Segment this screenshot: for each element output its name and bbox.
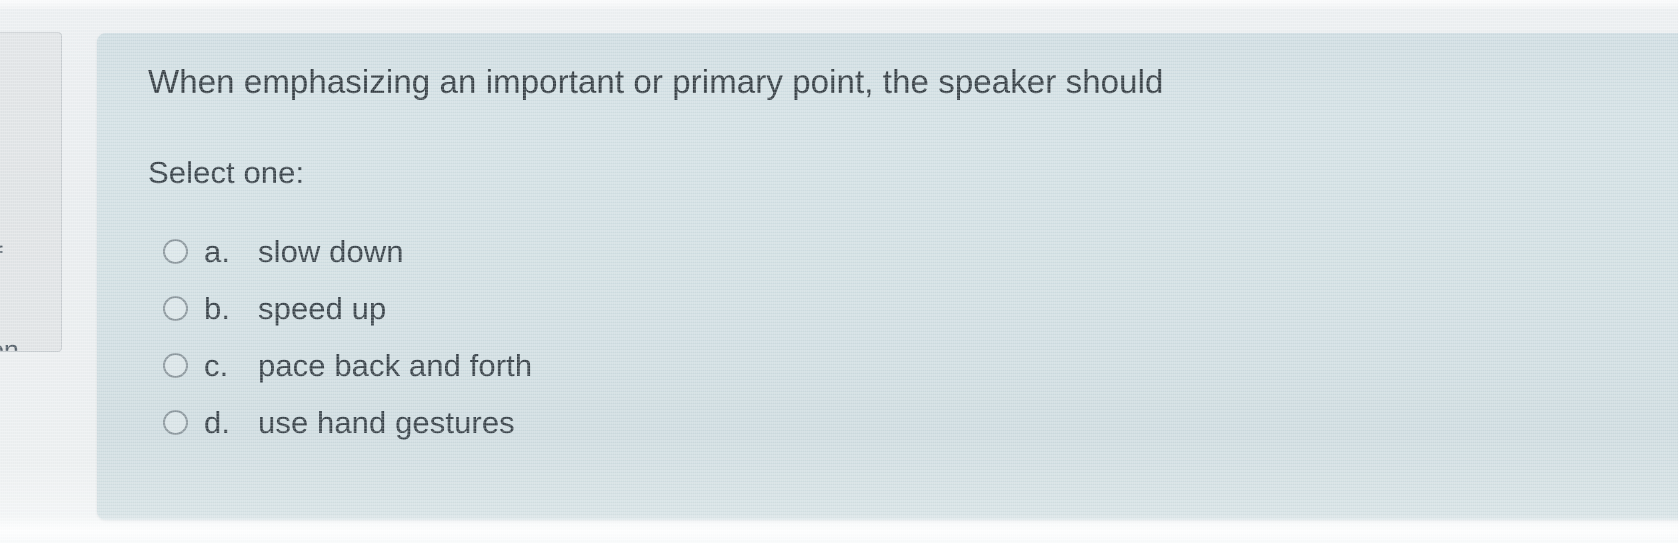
answer-option-d[interactable]: d. use hand gestures: [148, 394, 532, 451]
answer-letter-c: c.: [204, 348, 258, 384]
answer-option-b[interactable]: b. speed up: [148, 280, 532, 337]
radio-button-d[interactable]: [163, 410, 188, 435]
side-panel-text-fragment-bottom: on: [0, 335, 19, 352]
answer-label-d[interactable]: use hand gestures: [258, 405, 515, 441]
top-edge-sliver: [0, 0, 1678, 9]
quiz-navigation-panel[interactable]: | f on: [0, 32, 62, 352]
screen-photo: | f on When emphasizing an important or …: [0, 0, 1678, 543]
answer-label-a[interactable]: slow down: [258, 234, 404, 270]
answer-option-a[interactable]: a. slow down: [148, 223, 532, 280]
radio-button-a[interactable]: [163, 239, 188, 264]
answer-options-list: a. slow down b. speed up c. pace back an…: [148, 223, 532, 451]
side-panel-text-fragment-top: |: [0, 81, 1, 109]
answer-letter-b: b.: [204, 291, 258, 327]
question-text: When emphasizing an important or primary…: [148, 61, 1163, 102]
side-panel-text-fragment-middle: f: [0, 241, 2, 272]
question-card: When emphasizing an important or primary…: [97, 33, 1678, 520]
bottom-edge-band: [0, 515, 1678, 543]
answer-letter-a: a.: [204, 234, 258, 270]
answer-option-c[interactable]: c. pace back and forth: [148, 337, 532, 394]
answer-letter-d: d.: [204, 405, 258, 441]
radio-button-c[interactable]: [163, 353, 188, 378]
answer-label-b[interactable]: speed up: [258, 291, 386, 327]
radio-button-b[interactable]: [163, 296, 188, 321]
select-one-label: Select one:: [148, 155, 304, 191]
answer-label-c[interactable]: pace back and forth: [258, 348, 532, 384]
